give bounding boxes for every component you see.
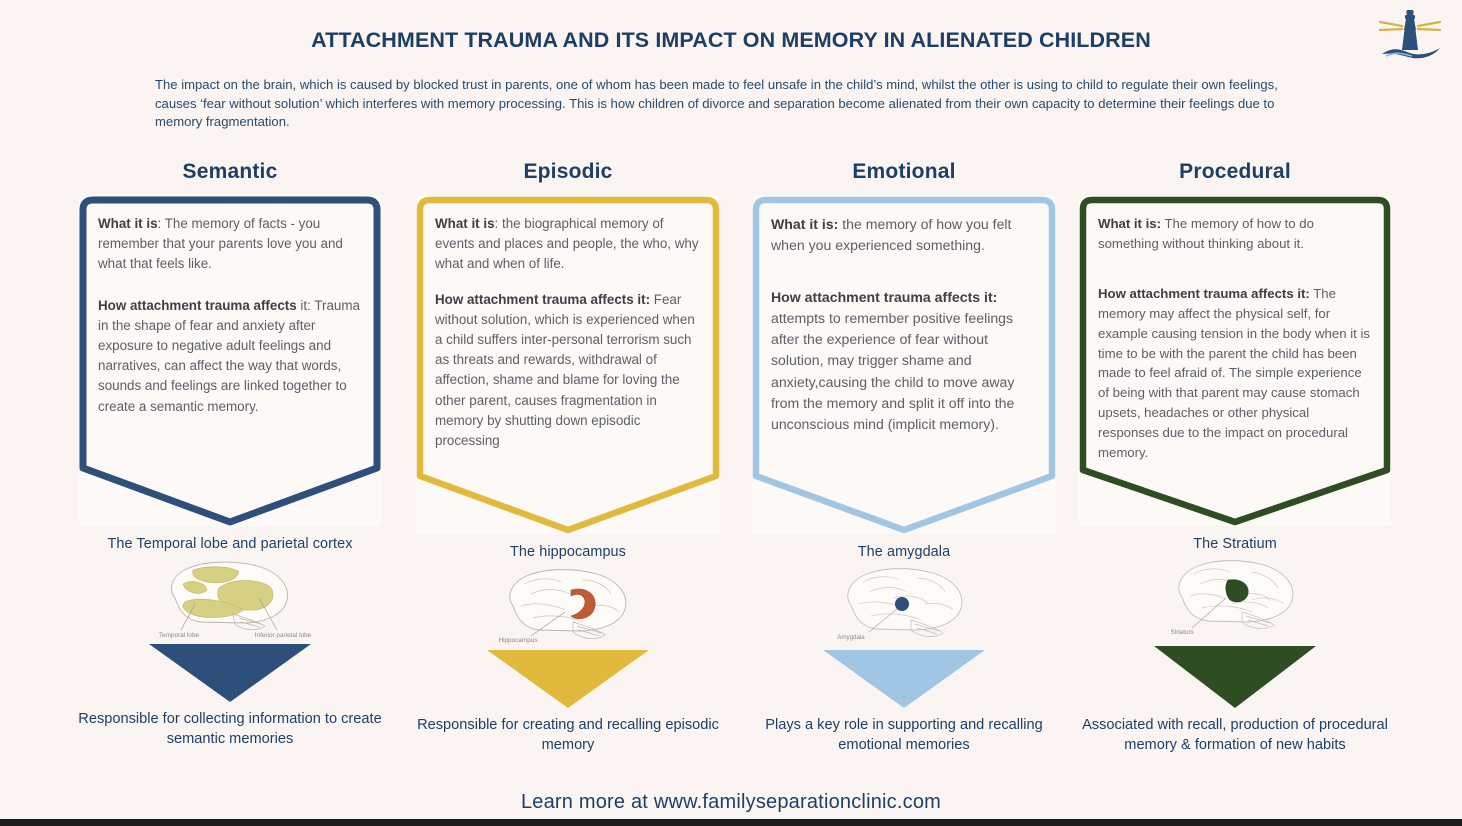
- info-card-emotional: What it is: the memory of how you felt w…: [752, 196, 1056, 534]
- intro-paragraph: The impact on the brain, which is caused…: [155, 76, 1285, 132]
- column-semantic: Semantic What it is: The memory of facts…: [60, 160, 400, 749]
- amygdala-marker: [895, 597, 909, 611]
- region-name-procedural: The Stratium: [1060, 536, 1410, 552]
- brain-diagram-striatum: Striatum: [1140, 554, 1330, 640]
- brain-diagram-amygdala: Amygdala: [809, 562, 999, 648]
- brain-label-amygdala: Amygdala: [837, 634, 865, 641]
- affects-episodic: How attachment trauma affects it: Fear w…: [435, 290, 701, 452]
- memory-columns: Semantic What it is: The memory of facts…: [0, 160, 1462, 790]
- lighthouse-logo: [1372, 6, 1448, 62]
- affects-procedural: How attachment trauma affects it: The me…: [1098, 284, 1372, 463]
- brain-label-temporal-lobe: Temporal lobe: [159, 632, 200, 639]
- role-text-emotional: Plays a key role in supporting and recal…: [736, 715, 1072, 755]
- region-name-emotional: The amygdala: [736, 544, 1072, 560]
- column-title-procedural: Procedural: [1060, 160, 1410, 184]
- info-card-procedural: What it is: The memory of how to do some…: [1079, 196, 1391, 526]
- role-text-semantic: Responsible for collecting information t…: [60, 709, 400, 749]
- column-emotional: Emotional What it is: the memory of how …: [736, 160, 1072, 755]
- brain-label-hippocampus: Hippocampus: [498, 637, 537, 644]
- footer-link[interactable]: Learn more at www.familyseparationclinic…: [0, 791, 1462, 814]
- brain-label-inferior-parietal-lobe: Inferior parietal lobe: [255, 632, 312, 639]
- bottom-bar: [0, 819, 1462, 826]
- column-procedural: Procedural What it is: The memory of how…: [1060, 160, 1410, 755]
- column-title-episodic: Episodic: [400, 160, 736, 184]
- card-body-episodic: What it is: the biographical memory of e…: [416, 196, 720, 451]
- brain-diagram-hippocampus: Hippocampus: [473, 562, 663, 648]
- card-body-procedural: What it is: The memory of how to do some…: [1079, 196, 1391, 463]
- what-it-is-episodic: What it is: the biographical memory of e…: [435, 214, 701, 275]
- column-title-emotional: Emotional: [736, 160, 1072, 184]
- arrow-down-emotional: [823, 650, 985, 708]
- column-episodic: Episodic What it is: the biographical me…: [400, 160, 736, 755]
- column-title-semantic: Semantic: [60, 160, 400, 184]
- info-card-semantic: What it is: The memory of facts - you re…: [79, 196, 381, 526]
- card-body-emotional: What it is: the memory of how you felt w…: [752, 196, 1056, 436]
- region-name-episodic: The hippocampus: [400, 544, 736, 560]
- affects-semantic: How attachment trauma affects it: Trauma…: [98, 296, 362, 417]
- what-it-is-emotional: What it is: the memory of how you felt w…: [771, 214, 1037, 257]
- info-card-episodic: What it is: the biographical memory of e…: [416, 196, 720, 534]
- card-body-semantic: What it is: The memory of facts - you re…: [79, 196, 381, 417]
- page-title: ATTACHMENT TRAUMA AND ITS IMPACT ON MEMO…: [0, 0, 1462, 53]
- region-name-semantic: The Temporal lobe and parietal cortex: [60, 536, 400, 552]
- affects-emotional: How attachment trauma affects it: attemp…: [771, 287, 1037, 436]
- role-text-procedural: Associated with recall, production of pr…: [1060, 715, 1410, 755]
- brain-label-striatum: Striatum: [1170, 629, 1193, 636]
- arrow-down-episodic: [487, 650, 649, 708]
- role-text-episodic: Responsible for creating and recalling e…: [400, 715, 736, 755]
- what-it-is-semantic: What it is: The memory of facts - you re…: [98, 214, 362, 275]
- what-it-is-procedural: What it is: The memory of how to do some…: [1098, 214, 1372, 254]
- arrow-down-semantic: [149, 644, 311, 702]
- brain-diagram-temporal-lobe: Temporal lobe Inferior parietal lobe: [135, 554, 325, 640]
- arrow-down-procedural: [1154, 646, 1316, 708]
